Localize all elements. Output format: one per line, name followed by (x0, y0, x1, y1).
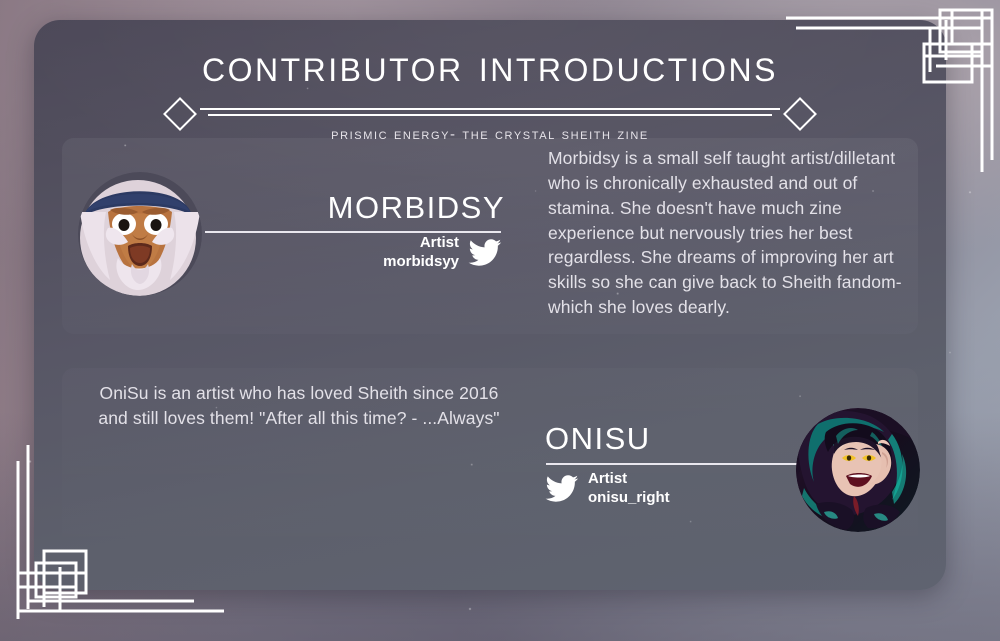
art-deco-corner-frame-icon-top-right (760, 0, 1000, 200)
contributor-1-rule (205, 231, 501, 233)
contributor-2-role: Artist (588, 470, 627, 489)
twitter-bird-icon[interactable] (468, 239, 502, 267)
contributor-2-handle: onisu_right (588, 489, 670, 508)
art-deco-corner-frame-icon-bottom-left (0, 411, 240, 641)
contributor-1-handle-block[interactable]: Artist morbidsyy (240, 234, 502, 272)
divider-line-bottom (208, 114, 772, 116)
contributor-name-onisu: OniSu (545, 413, 815, 457)
header-divider (164, 96, 816, 128)
header-divider-lines (200, 108, 780, 116)
avatar-onisu (796, 408, 920, 532)
contributor-2-handle-text: Artist onisu_right (588, 470, 670, 508)
twitter-bird-icon[interactable] (545, 475, 579, 503)
contributor-1-role: Artist (420, 234, 459, 253)
zine-contributor-page: Contributor Introductions Prismic Energy… (0, 0, 1000, 641)
contributor-name-morbidsy: Morbidsy (220, 182, 505, 226)
contributor-1-handle: morbidsyy (383, 253, 459, 272)
avatar-morbidsy (78, 172, 202, 296)
contributor-1-handle-text: Artist morbidsyy (383, 234, 459, 272)
contributor-2-rule (546, 463, 806, 465)
contributor-2-handle-block[interactable]: Artist onisu_right (545, 470, 807, 508)
divider-line-top (200, 108, 780, 110)
